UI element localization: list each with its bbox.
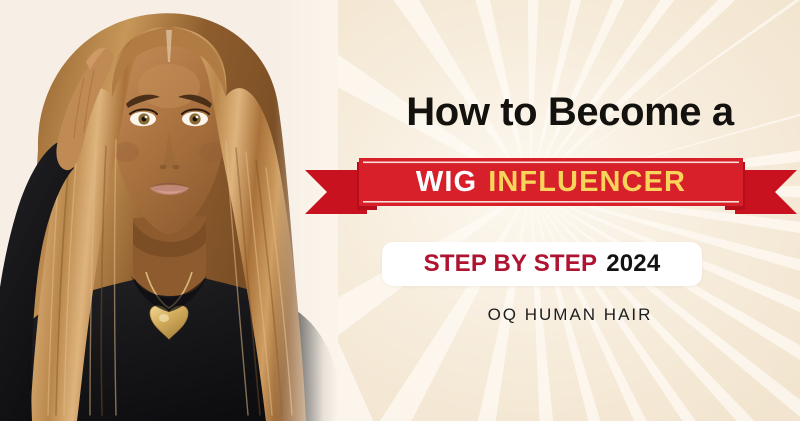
promo-banner: How to Become a WIG INFLUENCER STEP BY S… (0, 0, 800, 421)
ribbon-word-wig: WIG (416, 168, 477, 197)
ribbon-banner: WIG INFLUENCER (305, 158, 797, 224)
step-by-step-badge: STEP BY STEP 2024 (382, 242, 702, 286)
page-title: How to Become a (340, 92, 800, 132)
ribbon-word-influencer: INFLUENCER (488, 168, 686, 197)
badge-label-step: STEP BY STEP (424, 250, 598, 278)
badge-label-year: 2024 (606, 250, 660, 278)
ribbon-text: WIG INFLUENCER (305, 158, 797, 206)
model-photo (0, 0, 338, 421)
brand-name: OQ HUMAN HAIR (340, 305, 800, 325)
